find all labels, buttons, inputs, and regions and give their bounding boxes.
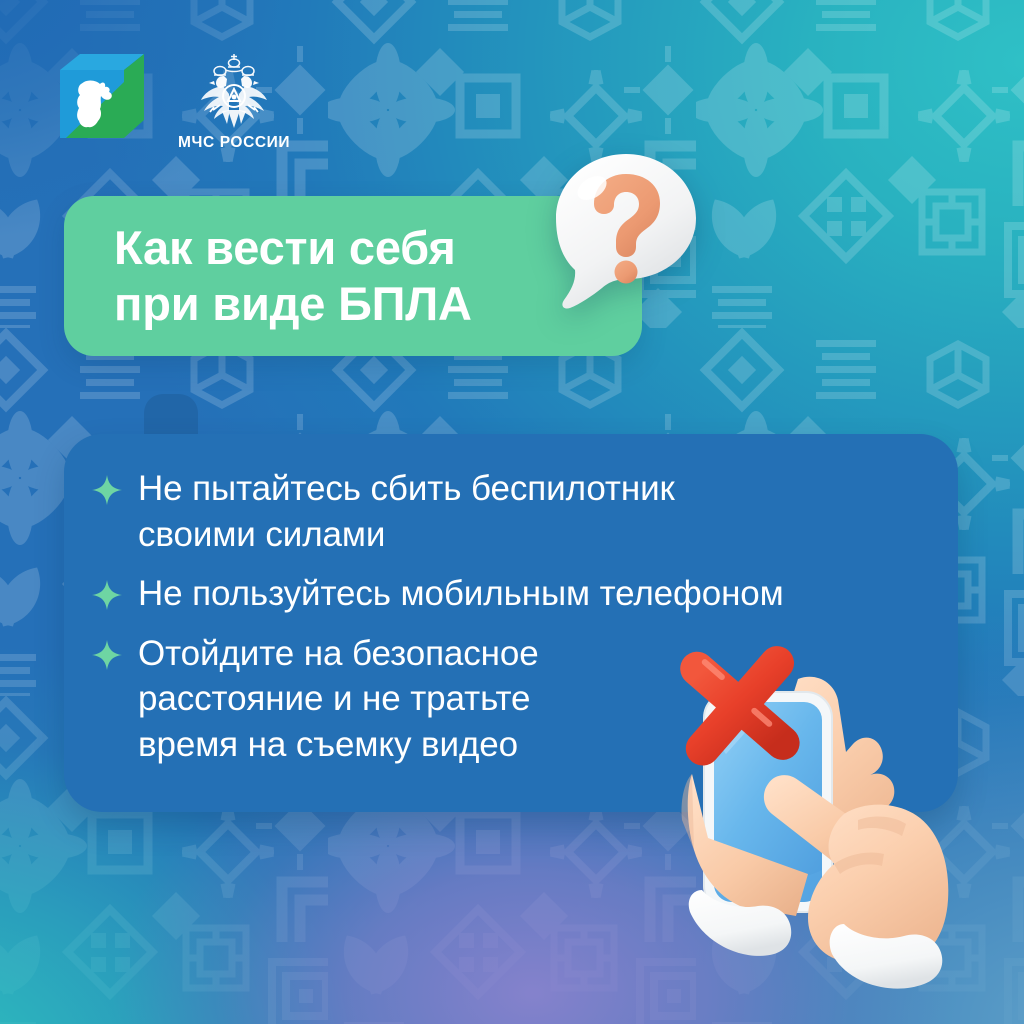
mchs-logo: МЧС РОССИИ <box>178 48 290 152</box>
sparkle-icon <box>92 640 122 670</box>
sparkle-icon <box>92 580 122 610</box>
branding-logos: МЧС РОССИИ <box>56 48 290 152</box>
list-item: Не пользуйтесь мобильным телефоном <box>92 571 952 617</box>
sparkle-icon <box>92 475 122 505</box>
region-cube-logo <box>56 48 148 144</box>
mchs-caption: МЧС РОССИИ <box>178 134 290 152</box>
mchs-eagle-emblem <box>196 50 272 130</box>
hand-holding-phone-illustration <box>648 624 1024 1024</box>
poster-root: МЧС РОССИИ Как вести себя при виде БПЛА <box>0 0 1024 1024</box>
list-item-label: Не пытайтесь сбить беспилотник своими си… <box>138 466 675 557</box>
list-item-label: Не пользуйтесь мобильным телефоном <box>138 571 784 617</box>
question-mark-speech-bubble-icon <box>540 148 712 323</box>
list-item: Не пытайтесь сбить беспилотник своими си… <box>92 466 952 557</box>
list-item-label: Отойдите на безопасное расстояние и не т… <box>138 631 539 768</box>
